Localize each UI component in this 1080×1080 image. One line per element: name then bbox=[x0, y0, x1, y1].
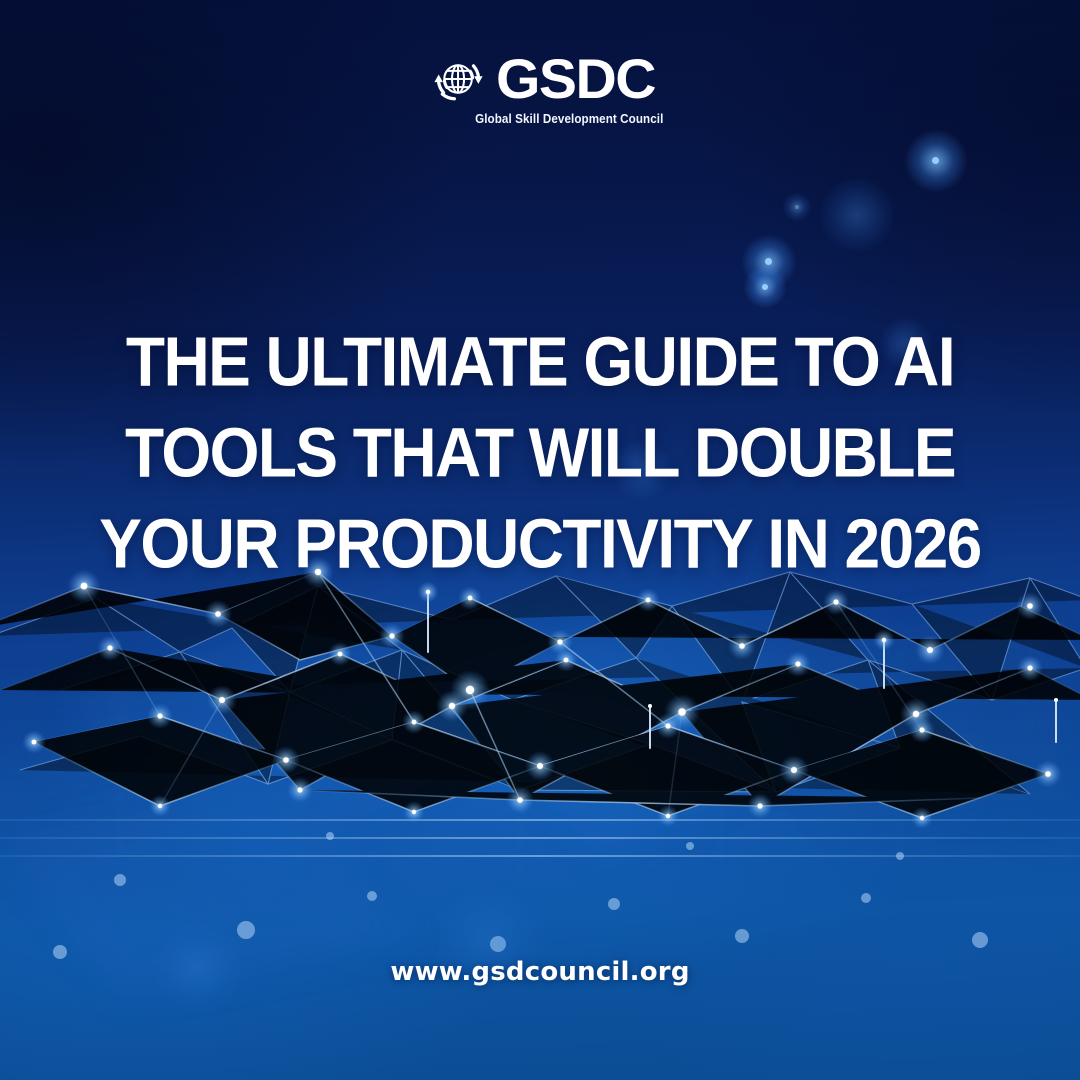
poster-canvas: GSDC Global Skill Development Council TH… bbox=[0, 0, 1080, 1080]
logo-row: GSDC bbox=[428, 48, 652, 110]
glow-dot-icon bbox=[932, 157, 939, 164]
glow-dot-icon bbox=[795, 205, 799, 209]
logo-wordmark: GSDC bbox=[496, 50, 655, 108]
glow-dot-icon bbox=[765, 258, 772, 265]
bokeh-blob bbox=[820, 178, 894, 252]
page-title: THE ULTIMATE GUIDE TO AI TOOLS THAT WILL… bbox=[0, 316, 1080, 589]
globe-rotating-arrows-icon bbox=[428, 48, 490, 110]
headline-line-2: TOOLS THAT WILL DOUBLE bbox=[71, 404, 1010, 500]
footer-website-url[interactable]: www.gsdcouncil.org bbox=[0, 957, 1080, 987]
glow-dot-icon bbox=[762, 284, 768, 290]
headline-line-1: THE ULTIMATE GUIDE TO AI bbox=[71, 313, 1010, 409]
brand-logo: GSDC Global Skill Development Council bbox=[0, 48, 1080, 126]
logo-tagline: Global Skill Development Council bbox=[475, 112, 663, 126]
headline-line-3: YOUR PRODUCTIVITY IN 2026 bbox=[71, 495, 1010, 591]
